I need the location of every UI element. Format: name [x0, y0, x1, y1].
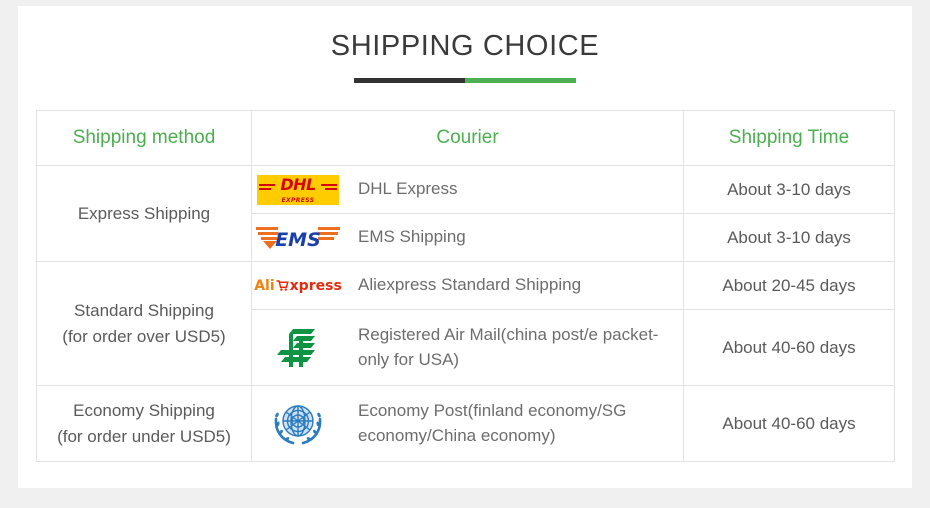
shipping-time: About 3-10 days	[684, 166, 895, 214]
svg-text:EMS: EMS	[275, 229, 321, 251]
table-row: Economy Shipping (for order under USD5)	[37, 386, 895, 462]
dhl-logo-subtext: EXPRESS	[257, 197, 339, 204]
courier-name: EMS Shipping	[358, 225, 466, 249]
shopping-cart-icon	[276, 279, 289, 292]
un-logo	[252, 397, 344, 451]
shipping-choice-card: SHIPPING CHOICE Shipping method Courier …	[18, 6, 912, 488]
shipping-method-express: Express Shipping	[37, 166, 252, 262]
shipping-method-economy: Economy Shipping (for order under USD5)	[37, 386, 252, 462]
title-underline-right	[465, 78, 576, 83]
courier-name: DHL Express	[358, 177, 458, 201]
shipping-time: About 40-60 days	[684, 386, 895, 462]
shipping-time: About 40-60 days	[684, 310, 895, 386]
title-underline	[354, 78, 576, 83]
column-header-courier: Courier	[252, 111, 684, 166]
courier-name: Registered Air Mail(china post/e packet-…	[358, 323, 683, 371]
courier-cell-dhl: DHL EXPRESS DHL Express	[252, 166, 684, 214]
shipping-method-line-1: Standard Shipping	[37, 298, 251, 324]
table-header-row: Shipping method Courier Shipping Time	[37, 111, 895, 166]
shipping-method-line-2: (for order under USD5)	[37, 424, 251, 450]
page-header: SHIPPING CHOICE	[18, 6, 912, 83]
dhl-logo-wordmark: DHL	[257, 177, 339, 193]
china-post-logo	[252, 325, 344, 371]
courier-cell-economy-post: Economy Post(finland economy/SG economy/…	[252, 386, 684, 462]
title-underline-left	[354, 78, 465, 83]
shipping-time: About 3-10 days	[684, 214, 895, 262]
shipping-method-line-2: (for order over USD5)	[37, 324, 251, 350]
courier-cell-china-post: Registered Air Mail(china post/e packet-…	[252, 310, 684, 386]
shipping-method-line-1: Economy Shipping	[37, 398, 251, 424]
page-title: SHIPPING CHOICE	[18, 32, 912, 61]
courier-cell-ems: EMS EMS Shipping	[252, 214, 684, 262]
shipping-time: About 20-45 days	[684, 262, 895, 310]
column-header-shipping-time: Shipping Time	[684, 111, 895, 166]
courier-cell-aliexpress: Ali xpress	[252, 262, 684, 310]
shipping-method-standard: Standard Shipping (for order over USD5)	[37, 262, 252, 386]
courier-name: Aliexpress Standard Shipping	[358, 273, 581, 297]
aliexpress-logo-part1: Ali	[254, 278, 274, 294]
courier-name: Economy Post(finland economy/SG economy/…	[358, 399, 683, 447]
aliexpress-logo-part2: xpress	[290, 278, 342, 294]
table-row: Standard Shipping (for order over USD5) …	[37, 262, 895, 310]
dhl-logo: DHL EXPRESS	[252, 175, 344, 205]
table-row: Express Shipping DHL EXPRESS	[37, 166, 895, 214]
ems-logo: EMS	[252, 223, 344, 253]
shipping-options-table: Shipping method Courier Shipping Time Ex…	[36, 110, 895, 462]
aliexpress-logo: Ali xpress	[252, 278, 344, 294]
column-header-shipping-method: Shipping method	[37, 111, 252, 166]
